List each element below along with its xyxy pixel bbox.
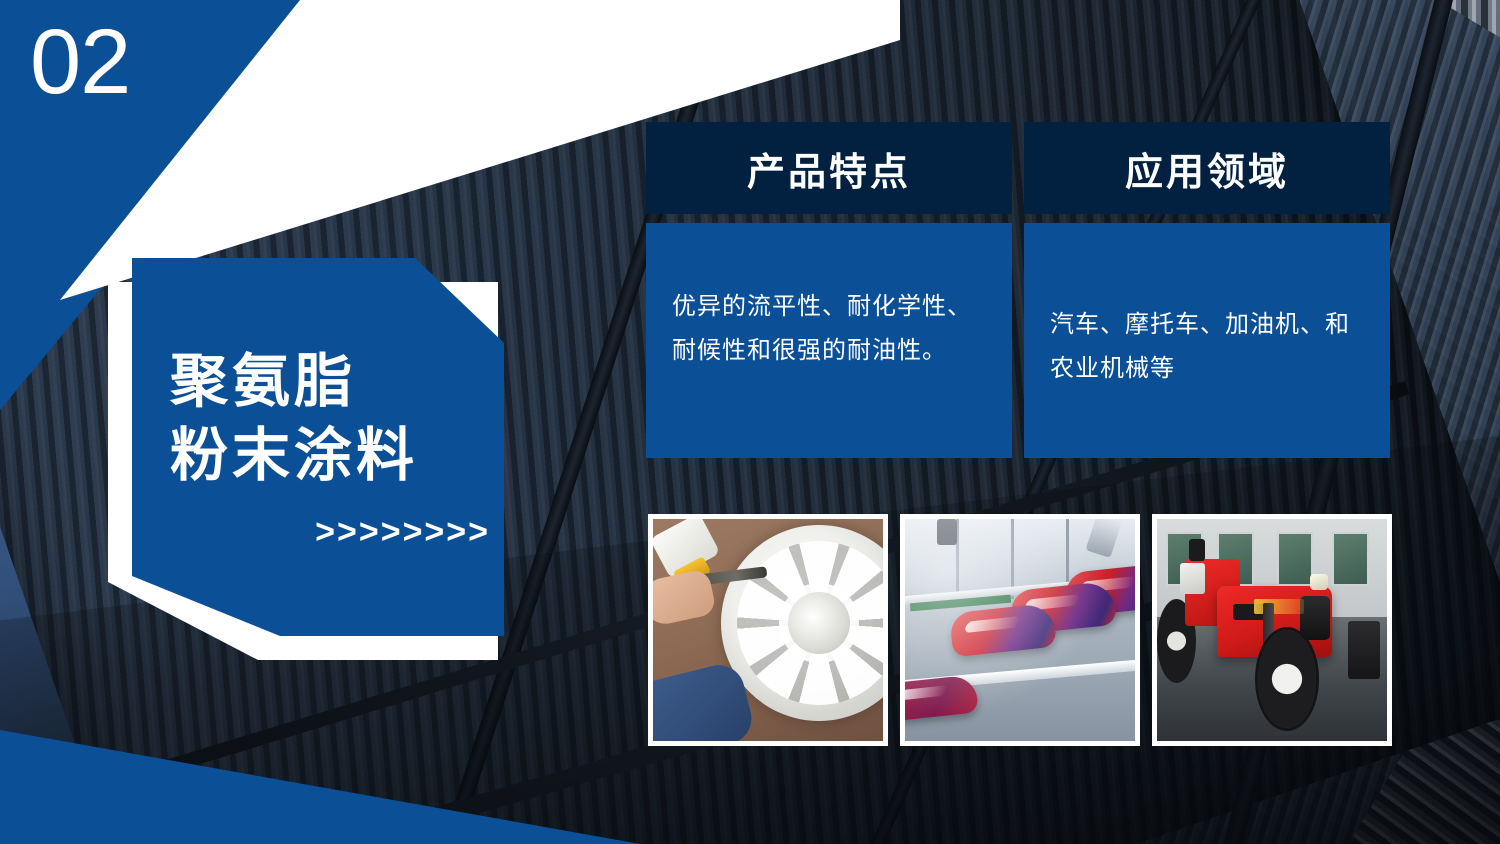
panel-body-product-features: 优异的流平性、耐化学性、耐候性和很强的耐油性。: [646, 223, 1012, 458]
panel-header-product-features: 产品特点: [646, 122, 1012, 214]
photo-powder-coating-alloy-wheel: [648, 514, 888, 746]
tractor-grille: [1300, 596, 1330, 640]
title-card: 聚氨脂 粉末涂料 >>>>>>>>: [132, 258, 504, 636]
window: [1277, 532, 1314, 585]
info-panels: 产品特点 优异的流平性、耐化学性、耐候性和很强的耐油性。 应用领域 汽车、摩托车…: [646, 122, 1390, 458]
panel-heading-text: 应用领域: [1125, 141, 1289, 196]
tractor-front-hitch: [1348, 621, 1380, 679]
worker-hand: [653, 568, 717, 628]
window: [1332, 532, 1369, 585]
photo-image: [653, 519, 883, 741]
photo-motorcycle-tanks-coating-line: [900, 514, 1140, 746]
panel-heading-text: 产品特点: [747, 141, 911, 196]
title-line-1: 聚氨脂: [142, 345, 504, 419]
booth-haze: [905, 519, 1135, 741]
panel-product-features: 产品特点 优异的流平性、耐化学性、耐候性和很强的耐油性。: [646, 122, 1012, 458]
title-line-2: 粉末涂料: [142, 419, 504, 493]
tractor-seat: [1180, 563, 1205, 594]
panel-body-text: 汽车、摩托车、加油机、和农业机械等: [1050, 285, 1364, 392]
tractor-headlight: [1310, 574, 1328, 590]
photo-image: [905, 519, 1135, 741]
chevron-arrows-icon: >>>>>>>>: [142, 515, 504, 549]
photo-strip: [648, 514, 1392, 746]
slide: 02 聚氨脂 粉末涂料 >>>>>>>> 产品特点 优异的流平性、耐化学性、耐候…: [0, 0, 1500, 844]
photo-image: [1157, 519, 1387, 741]
panel-body-text: 优异的流平性、耐化学性、耐候性和很强的耐油性。: [672, 285, 986, 374]
tractor-rear-wheel: [1258, 630, 1316, 728]
panel-body-application-areas: 汽车、摩托车、加油机、和农业机械等: [1024, 223, 1390, 458]
panel-header-application-areas: 应用领域: [1024, 122, 1390, 214]
wheel-hub-hole: [808, 612, 830, 634]
tractor-mirror: [1189, 539, 1205, 561]
photo-red-tractor: [1152, 514, 1392, 746]
panel-application-areas: 应用领域 汽车、摩托车、加油机、和农业机械等: [1024, 122, 1390, 458]
tractor-brand-decal: [1254, 599, 1305, 615]
section-number: 02: [30, 16, 130, 108]
